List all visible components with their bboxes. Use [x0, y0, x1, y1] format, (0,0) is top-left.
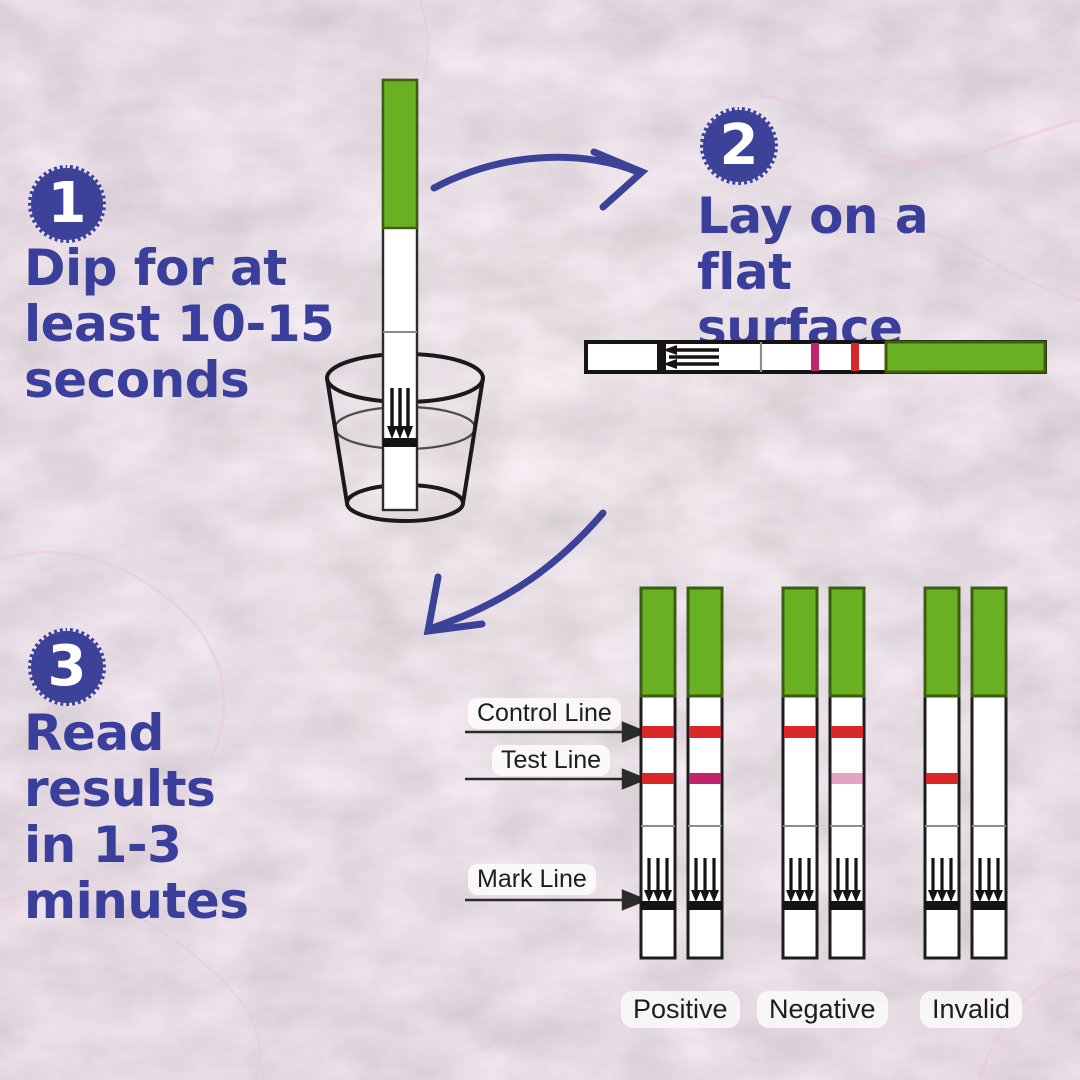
step-2-badge: 2 [700, 107, 778, 185]
caption-negative: Negative [757, 991, 888, 1028]
caption-positive: Positive [621, 991, 740, 1028]
step-3-badge: 3 [28, 628, 106, 706]
label-control-line: Control Line [468, 698, 621, 729]
strip-invalid-2 [972, 588, 1006, 958]
step-1-number: 1 [28, 165, 106, 243]
strip-negative-1 [783, 588, 817, 958]
strip-negative-2 [830, 588, 864, 958]
flat-test-strip-illustration [583, 333, 1048, 381]
step-1-badge: 1 [28, 165, 106, 243]
step-3-text: Read results in 1-3 minutes [24, 705, 369, 929]
result-group-invalid [925, 588, 1006, 958]
step-2-number: 2 [700, 107, 778, 185]
results-strips-diagram [455, 580, 1065, 980]
test-line [811, 343, 819, 371]
label-mark-line: Mark Line [468, 864, 596, 895]
caption-invalid: Invalid [920, 991, 1022, 1028]
result-group-negative [783, 588, 864, 958]
label-test-line: Test Line [492, 745, 610, 776]
result-group-positive [641, 588, 722, 958]
control-line [851, 343, 859, 371]
strip-positive-1 [641, 588, 675, 958]
curved-arrow-right-icon [400, 130, 680, 250]
strip-invalid-1 [925, 588, 959, 958]
step-3-number: 3 [28, 628, 106, 706]
strip-positive-2 [688, 588, 722, 958]
step-2-text: Lay on a flat surface [697, 188, 1037, 356]
mark-line-band [657, 342, 666, 372]
